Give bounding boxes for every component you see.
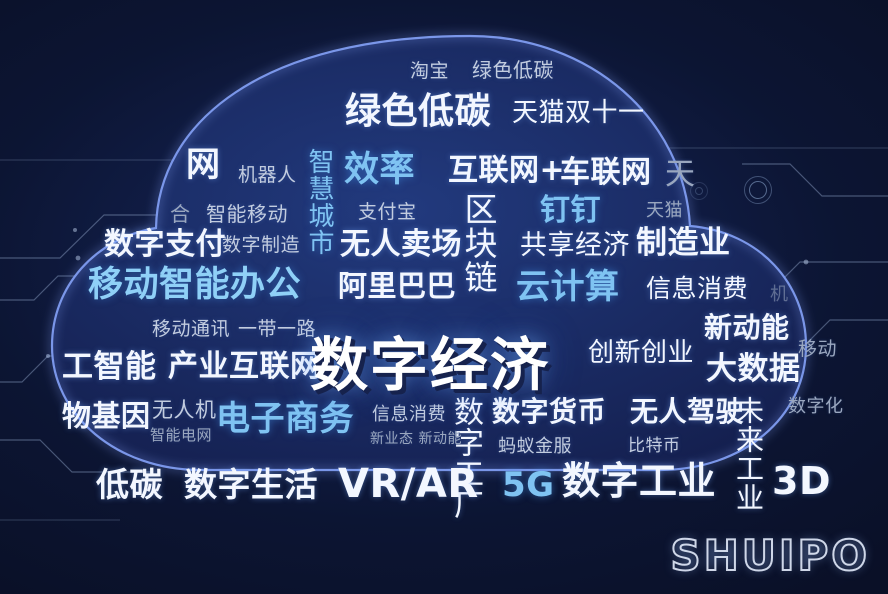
- word-5g: 5G: [502, 468, 555, 502]
- word-sharing-econ: 共享经济: [520, 232, 630, 259]
- word-smart-mobile: 智能移动: [206, 204, 288, 224]
- word-green-low-2: 绿色低碳: [345, 94, 491, 130]
- word-ant-financial: 蚂蚁金服: [498, 438, 572, 456]
- word-internet-cut: 网: [186, 148, 221, 182]
- word-tian-cut: 天: [665, 160, 696, 190]
- word-blockchain: 区块链: [462, 192, 495, 294]
- word-bio-gene-cut: 物基因: [62, 402, 151, 431]
- word-innovation: 创新创业: [588, 340, 694, 366]
- word-digital-mfg: 数字制造: [222, 236, 300, 255]
- word-autonomous: 无人驾驶: [630, 398, 744, 426]
- word-machine-cut: 机: [770, 286, 789, 304]
- word-digital-currency: 数字货币: [492, 398, 606, 426]
- hero-title: 数字经济: [310, 318, 550, 402]
- word-drone: 无人机: [152, 400, 217, 421]
- word-manufacturing: 制造业: [636, 228, 731, 259]
- word-big-data: 大数据: [706, 354, 801, 385]
- word-iov: 车联网: [560, 158, 652, 188]
- word-mobile-office: 移动智能办公: [88, 268, 301, 303]
- word-unmanned-shop: 无人卖场: [340, 230, 462, 260]
- word-new-momentum-1: 新动能: [704, 314, 790, 342]
- word-alipay: 支付宝: [358, 203, 417, 222]
- word-he-cut: 合: [170, 204, 191, 224]
- word-tmall-1111: 天猫双十一: [512, 100, 645, 126]
- word-efficiency: 效率: [344, 153, 415, 188]
- word-digitalization: 数字化: [788, 398, 844, 416]
- word-taobao: 淘宝: [410, 62, 449, 81]
- word-vr-ar: VR/AR: [338, 464, 479, 504]
- word-digital-pay: 数字支付: [104, 230, 226, 260]
- word-digital-ind: 数字工业: [562, 462, 716, 500]
- word-ecommerce: 电子商务: [216, 402, 354, 436]
- word-info-consume-2: 信息消费: [372, 406, 446, 424]
- word-mobile-comm: 移动通讯: [152, 320, 230, 339]
- word-robot: 机器人: [238, 166, 297, 185]
- word-new-format: 新业态 新动能: [370, 432, 462, 446]
- word-ai-cut: 工智能: [62, 352, 157, 383]
- word-smart-grid: 智能电网: [150, 428, 212, 443]
- word-cloud-compute: 云计算: [516, 270, 620, 304]
- word-info-consume-1: 信息消费: [646, 276, 748, 301]
- word-cloud-poster: 淘宝 绿色低碳 绿色低碳 天猫双十一 网 机器人 智慧城市 效率 互联网+ 车联…: [0, 0, 888, 594]
- word-internet-plus: 互联网+: [448, 156, 565, 186]
- word-tmall: 天猫: [646, 202, 683, 220]
- word-bitcoin: 比特币: [628, 438, 681, 455]
- word-cloud-terms: 淘宝 绿色低碳 绿色低碳 天猫双十一 网 机器人 智慧城市 效率 互联网+ 车联…: [0, 0, 888, 594]
- word-mobile-cut: 移动: [798, 340, 837, 359]
- watermark-logo: SHUIPO: [670, 531, 870, 580]
- word-future-ind: 未来工业: [734, 396, 762, 512]
- word-3d: 3D: [772, 462, 831, 500]
- word-alibaba: 阿里巴巴: [338, 272, 456, 301]
- word-dingtalk: 钉钉: [540, 196, 601, 226]
- word-digital-life: 数字生活: [184, 468, 318, 501]
- word-smart-city: 智慧城市: [306, 148, 332, 256]
- word-belt-road: 一带一路: [238, 320, 316, 339]
- word-green-low-1: 绿色低碳: [472, 60, 554, 80]
- word-low-carbon: 低碳: [96, 468, 163, 501]
- word-industrial-net: 产业互联网: [168, 352, 321, 382]
